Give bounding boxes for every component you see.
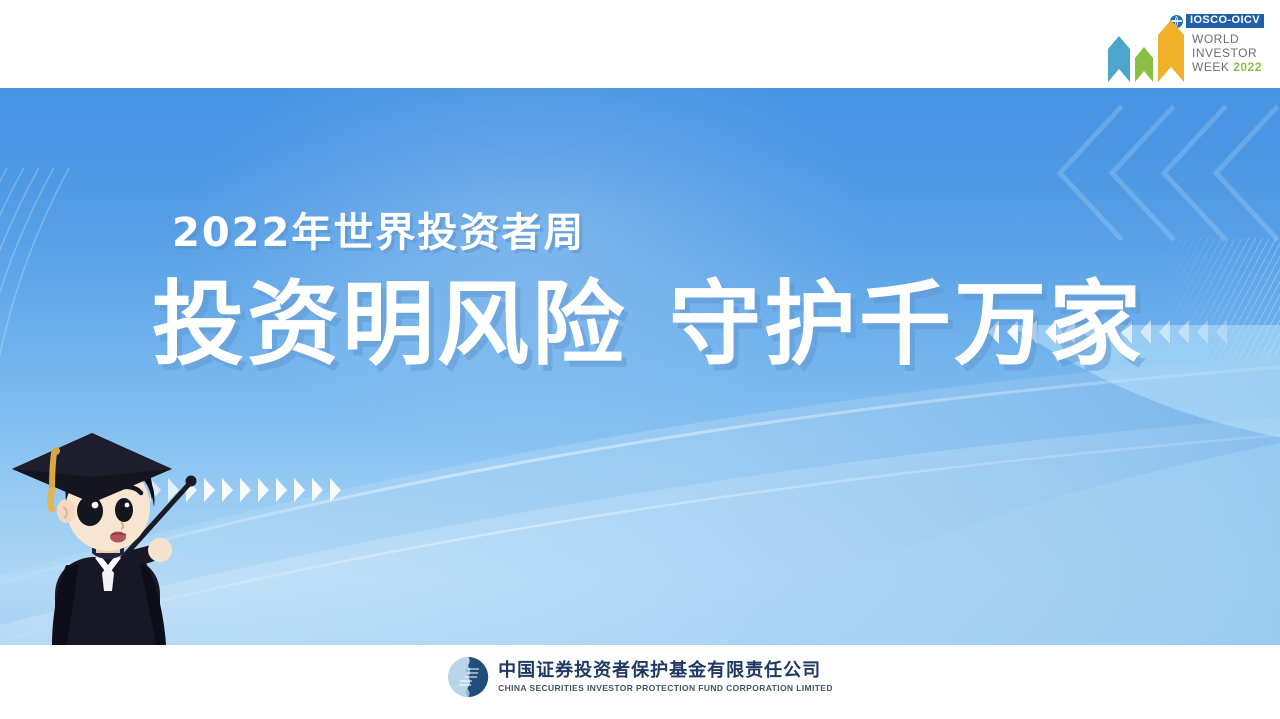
slogan-part-left: 投资明风险 [152,271,627,378]
left-arc-decoration [0,168,270,645]
wiw-line-investor: INVESTOR [1192,46,1262,60]
graduation-cap-icon [12,433,172,509]
chevron-icon [1045,320,1056,344]
chevron-icon [1159,320,1170,344]
world-investor-week-logo: IOSCO-OICV WORLD INVESTOR [1100,6,1268,84]
chevron-icon [114,478,125,502]
slogan-part-right: 守护千万家 [669,271,1144,378]
chevron-icon [1197,320,1208,344]
chevron-icon [222,478,233,502]
banner-background: 2022年世界投资者周 投资明风险守护千万家 [0,88,1280,645]
pencil-blue-body [1108,49,1130,82]
wiw-week-label: WEEK [1192,60,1229,74]
chevron-icon [312,478,323,502]
world-investor-week-wordmark: WORLD INVESTOR WEEK 2022 [1192,32,1262,74]
chevron-icon [294,478,305,502]
organization-name-en: CHINA SECURITIES INVESTOR PROTECTION FUN… [498,683,833,693]
iosco-wordmark: IOSCO-OICV [1186,14,1264,28]
large-chevron-outline-decoration [980,98,1280,308]
organization-name-cn: 中国证券投资者保护基金有限责任公司 [498,661,833,681]
footer-band: 中国证券投资者保护基金有限责任公司 CHINA SECURITIES INVES… [0,645,1280,719]
chevron-icon [330,478,341,502]
chevron-icon [988,320,999,344]
chevron-icon [258,478,269,502]
mascot-head [66,463,150,551]
slogan-headline: 投资明风险守护千万家 [152,273,1144,377]
chevron-icon [1007,320,1018,344]
pencil-trio-icon [1102,18,1190,82]
chevron-icon [1140,320,1151,344]
mascot-eye-right [115,498,133,522]
diagonal-hatch-top [1160,238,1280,428]
mascot-mouth [110,532,126,543]
header-band: IOSCO-OICV WORLD INVESTOR [0,0,1280,88]
chevron-icon [1026,320,1037,344]
chevron-icon [186,478,197,502]
chevron-icon [96,478,107,502]
pencil-green-body [1135,58,1153,82]
chevron-icon [1102,320,1113,344]
wiw-line-world: WORLD [1192,32,1262,46]
pencil-yellow-body [1158,35,1184,82]
chevron-icon [132,478,143,502]
mascot-gown [55,557,160,645]
pencil-yellow-nib [1158,20,1184,35]
chevron-icon [150,478,161,502]
wiw-line-week: WEEK 2022 [1192,60,1262,74]
pencil-green-nib [1135,47,1153,58]
wave-decoration [0,325,1280,645]
chevron-icon [276,478,287,502]
chevron-icon [1083,320,1094,344]
chevron-icon [204,478,215,502]
poster-root: IOSCO-OICV WORLD INVESTOR [0,0,1280,719]
chevron-icon [1216,320,1227,344]
chevron-strip-left-pointing [988,320,1227,344]
chevron-strip-right-pointing [96,478,341,502]
chevron-icon [1178,320,1189,344]
wiw-year-label: 2022 [1233,60,1262,74]
sipf-logo-lockup: 中国证券投资者保护基金有限责任公司 CHINA SECURITIES INVES… [447,656,833,698]
chevron-icon [1121,320,1132,344]
pointer-stick-icon [118,476,197,564]
mascot-eye-left [77,496,103,526]
event-subtitle: 2022年世界投资者周 [172,210,585,256]
pencil-green-icon [1135,47,1153,82]
graduate-professor-mascot [0,415,215,645]
pencil-blue-nib [1108,36,1130,49]
sipf-emblem-icon [447,656,489,698]
chevron-icon [240,478,251,502]
diagonal-hatch-right [1090,368,1280,598]
mascot-arm [126,542,169,567]
mascot-hair [66,449,153,501]
sipf-wordmark: 中国证券投资者保护基金有限责任公司 CHINA SECURITIES INVES… [498,661,833,693]
pencil-blue-icon [1108,36,1130,82]
mascot-hand [148,538,172,562]
chevron-icon [1064,320,1075,344]
chevron-icon [168,478,179,502]
pencil-yellow-icon [1158,20,1184,82]
background-glow [180,88,880,448]
